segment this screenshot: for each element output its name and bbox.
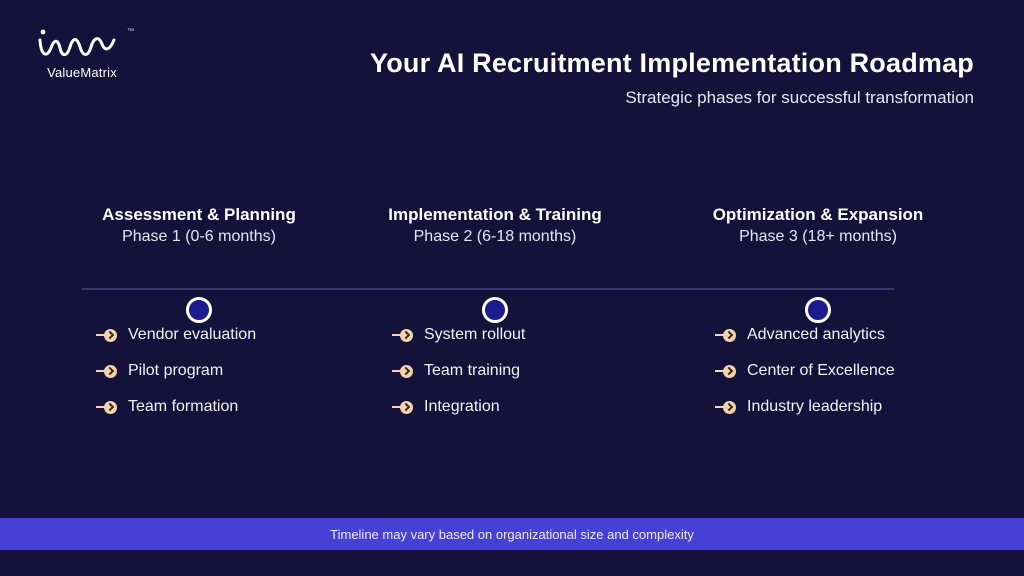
phase-node-wrap [49,246,349,286]
list-item[interactable]: Industry leadership [715,389,968,425]
phase-node-wrap [668,246,968,286]
timeline-axis-line [82,288,894,290]
list-item-label: Team training [424,362,520,380]
phase-subtitle: Phase 1 (0-6 months) [49,228,349,246]
list-item[interactable]: Advanced analytics [715,317,968,353]
phase-title: Implementation & Training [345,205,645,225]
trademark-symbol: ™ [127,28,134,35]
roadmap-timeline: Assessment & Planning Phase 1 (0-6 month… [0,205,1024,445]
footer-bar: Timeline may vary based on organizationa… [0,518,1024,550]
arrow-bullet-icon [715,399,737,415]
arrow-bullet-icon [96,363,118,379]
brand-logo: ™ ValueMatrix [30,26,140,88]
arrow-bullet-icon [392,327,414,343]
list-item-label: Industry leadership [747,398,882,416]
phase-subtitle: Phase 2 (6-18 months) [345,228,645,246]
footer-note: Timeline may vary based on organizationa… [330,527,694,542]
phase-title: Assessment & Planning [49,205,349,225]
timeline-phase-2[interactable]: Implementation & Training Phase 2 (6-18 … [345,205,645,286]
phase-subtitle: Phase 3 (18+ months) [668,228,968,246]
brand-name: ValueMatrix [30,65,134,80]
phase-items: System rollout Team training Integration [345,317,645,425]
list-item[interactable]: Integration [392,389,645,425]
phase-node-wrap [345,246,645,286]
arrow-bullet-icon [715,363,737,379]
arrow-bullet-icon [392,363,414,379]
list-item-label: Team formation [128,398,238,416]
list-item-label: Pilot program [128,362,223,380]
list-item-label: Vendor evaluation [128,326,256,344]
slide-root: ™ ValueMatrix Your AI Recruitment Implem… [0,0,1024,576]
list-item-label: Integration [424,398,500,416]
phase-items: Vendor evaluation Pilot program Team for… [49,317,349,425]
page-title: Your AI Recruitment Implementation Roadm… [370,48,974,79]
arrow-bullet-icon [715,327,737,343]
arrow-bullet-icon [96,327,118,343]
list-item[interactable]: Center of Excellence [715,353,968,389]
list-item[interactable]: System rollout [392,317,645,353]
list-item-label: System rollout [424,326,525,344]
arrow-bullet-icon [96,399,118,415]
list-item-label: Center of Excellence [747,362,895,380]
page-subtitle: Strategic phases for successful transfor… [625,88,974,108]
arrow-bullet-icon [392,399,414,415]
list-item[interactable]: Team formation [96,389,349,425]
list-item[interactable]: Team training [392,353,645,389]
timeline-phase-3[interactable]: Optimization & Expansion Phase 3 (18+ mo… [668,205,968,286]
list-item[interactable]: Pilot program [96,353,349,389]
list-item-label: Advanced analytics [747,326,885,344]
wave-logo-icon: ™ [34,26,130,62]
list-item[interactable]: Vendor evaluation [96,317,349,353]
phase-title: Optimization & Expansion [668,205,968,225]
phase-items: Advanced analytics Center of Excellence … [668,317,968,425]
timeline-phase-1[interactable]: Assessment & Planning Phase 1 (0-6 month… [49,205,349,286]
